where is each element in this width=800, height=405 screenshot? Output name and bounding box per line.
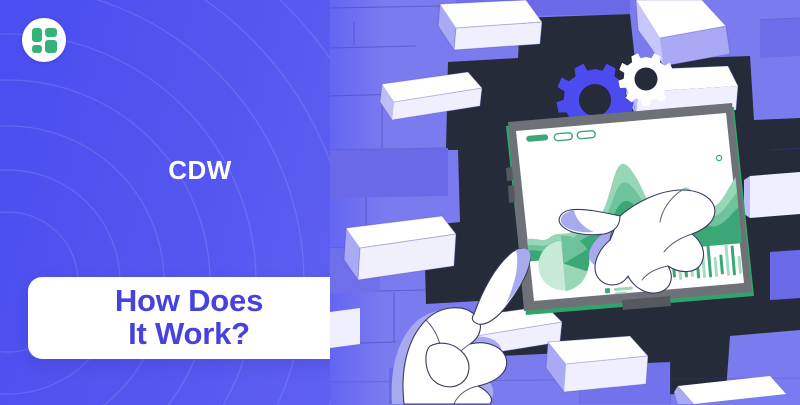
- flying-brick-8: [546, 336, 648, 392]
- four-square-grid-icon: [32, 28, 57, 53]
- grid-square-bottom-right: [45, 40, 57, 53]
- illustration-broken-wall-tablet: [330, 0, 800, 405]
- tablet-volume-button: [506, 167, 513, 181]
- flying-brick-10: [330, 308, 360, 348]
- tablet-power-button: [508, 185, 515, 203]
- brand-logo-badge[interactable]: [22, 18, 66, 62]
- cta-card[interactable]: How Does It Work?: [28, 277, 350, 359]
- flying-brick-2: [438, 0, 542, 50]
- promo-banner: CDW How Does It Work?: [0, 0, 800, 405]
- cta-heading-line-1: How Does: [115, 283, 263, 318]
- cta-heading: How Does It Work?: [115, 285, 263, 351]
- cta-heading-line-2: It Work?: [115, 318, 263, 351]
- grid-square-bottom-left: [32, 45, 42, 53]
- grid-square-top-left: [32, 28, 42, 42]
- flying-brick-7: [744, 172, 800, 218]
- grid-square-top-right: [45, 28, 57, 37]
